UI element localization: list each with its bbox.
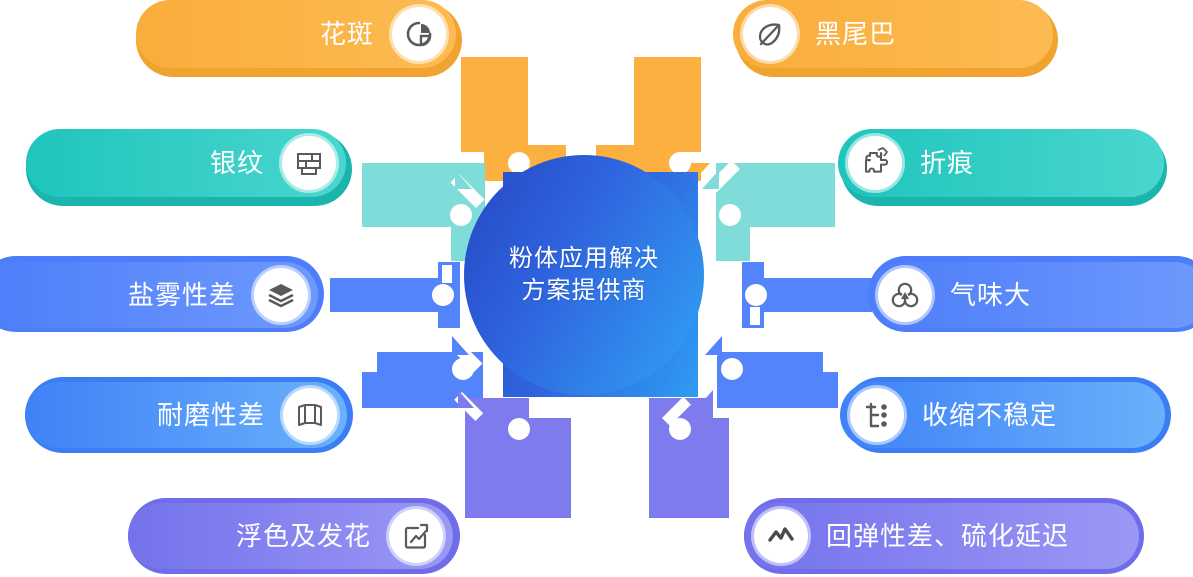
connector-dot (721, 358, 743, 380)
node-label: 气味大 (950, 282, 1031, 308)
recycle-icon (878, 268, 932, 322)
node-label: 盐雾性差 (128, 282, 236, 308)
line-chart-icon (754, 509, 808, 563)
center-node-text: 粉体应用解决 方案提供商 (509, 243, 659, 308)
puzzle-icon (848, 136, 902, 190)
node-pill-huaban[interactable]: 花斑 (136, 0, 456, 68)
connector-dot (669, 152, 691, 174)
layers-icon (254, 268, 308, 322)
brick-wall-icon (282, 136, 336, 190)
node-pill-qiweida[interactable]: 气味大 (868, 262, 1193, 328)
node-label: 收缩不稳定 (922, 402, 1057, 428)
node-pill-heiweiba[interactable]: 黑尾巴 (733, 0, 1053, 68)
node-pill-huitanxingcha[interactable]: 回弹性差、硫化延迟 (744, 503, 1139, 569)
node-label: 回弹性差、硫化延迟 (826, 523, 1069, 549)
connector-dot (719, 204, 741, 226)
leaf-icon (743, 7, 797, 61)
node-pill-naimoxingcha[interactable]: 耐磨性差 (25, 382, 347, 448)
connector-dot (432, 284, 454, 306)
connector-dot (508, 418, 530, 440)
trend-box-icon (389, 509, 443, 563)
center-line-1: 粉体应用解决 (509, 243, 659, 275)
node-pill-yanwuxingcha[interactable]: 盐雾性差 (0, 262, 318, 328)
connector-dot (669, 418, 691, 440)
node-pill-shousuobuwending[interactable]: 收缩不稳定 (840, 382, 1165, 448)
node-label: 浮色及发花 (236, 523, 371, 549)
pie-chart-icon (392, 7, 446, 61)
center-line-2: 方案提供商 (509, 275, 659, 307)
node-label: 黑尾巴 (815, 21, 896, 47)
node-pill-fusejifahua[interactable]: 浮色及发花 (128, 503, 453, 569)
map-icon (283, 388, 337, 442)
node-label: 花斑 (320, 21, 374, 47)
center-node[interactable]: 粉体应用解决 方案提供商 (464, 155, 704, 395)
node-pill-zhehen[interactable]: 折痕 (838, 129, 1164, 197)
connector-dot (452, 358, 474, 380)
sitemap-icon (850, 388, 904, 442)
node-label: 银纹 (210, 150, 264, 176)
node-label: 折痕 (920, 150, 974, 176)
connector-dot (450, 204, 472, 226)
node-pill-yinwen[interactable]: 银纹 (26, 129, 346, 197)
node-label: 耐磨性差 (157, 402, 265, 428)
diagram-canvas: 粉体应用解决 方案提供商 花斑 黑尾巴 银纹 (0, 0, 1193, 577)
connector-dot (745, 284, 767, 306)
